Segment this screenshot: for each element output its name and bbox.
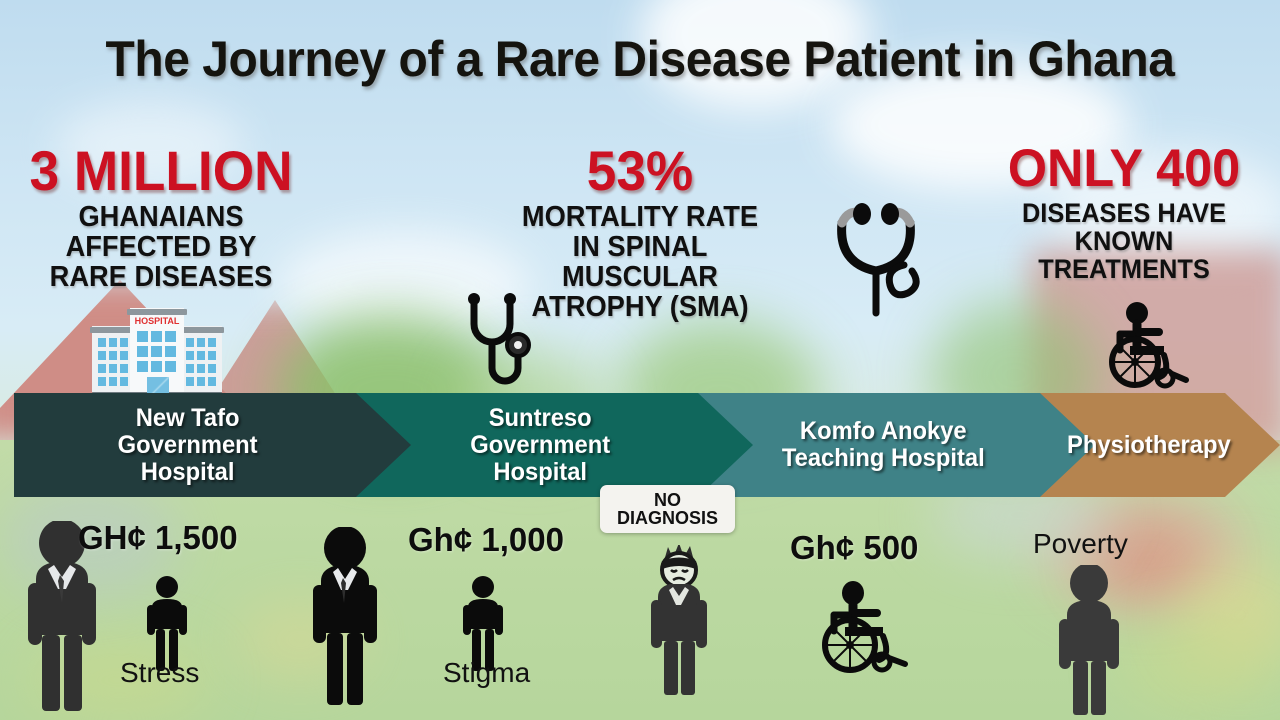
- stat-label-treatments: DISEASES HAVE KNOWN TREATMENTS: [972, 199, 1277, 283]
- journey-arrow-chain: New Tafo Government Hospital Suntreso Go…: [0, 393, 1280, 497]
- cost-amount-2: Gh¢ 1,000: [408, 521, 564, 559]
- stat-label-mortality: MORTALITY RATE IN SPINAL MUSCULAR ATROPH…: [480, 202, 800, 323]
- journey-step-label: Komfo Anokye Teaching Hospital: [765, 418, 985, 472]
- distressed-patient-figure: [640, 545, 718, 695]
- stat-value-treatments: ONLY 400: [970, 144, 1278, 195]
- outcome-caption-stress: Stress: [120, 657, 199, 689]
- stat-block-treatments: ONLY 400 DISEASES HAVE KNOWN TREATMENTS: [962, 144, 1280, 283]
- stat-value-mortality: 53%: [479, 144, 802, 198]
- hospital-sign-text: HOSPITAL: [92, 316, 222, 326]
- outcome-caption-poverty: Poverty: [1033, 528, 1128, 560]
- journey-step-label: Physiotherapy: [1057, 432, 1230, 459]
- businessman-figure: [300, 527, 390, 705]
- page-title: The Journey of a Rare Disease Patient in…: [26, 30, 1255, 88]
- wheelchair-patient-icon: [818, 579, 923, 674]
- stat-block-mortality: 53% MORTALITY RATE IN SPINAL MUSCULAR AT…: [470, 144, 810, 322]
- stat-label-affected: GHANAIANS AFFECTED BY RARE DISEASES: [6, 202, 316, 292]
- poverty-figure: [1050, 565, 1128, 715]
- journey-step-label: New Tafo Government Hospital: [118, 405, 258, 486]
- cost-amount-3: Gh¢ 500: [790, 529, 918, 567]
- journey-step-new-tafo[interactable]: New Tafo Government Hospital: [14, 393, 414, 497]
- no-diagnosis-badge: NO DIAGNOSIS: [600, 485, 735, 533]
- journey-step-komfo-anokye[interactable]: Komfo Anokye Teaching Hospital: [698, 393, 1098, 497]
- stat-block-affected: 3 MILLION GHANAIANS AFFECTED BY RARE DIS…: [0, 144, 326, 292]
- journey-step-suntreso[interactable]: Suntreso Government Hospital: [356, 393, 756, 497]
- wheelchair-icon: [1108, 300, 1208, 390]
- hospital-building-icon: HOSPITAL: [92, 303, 222, 399]
- stethoscope-smiley-icon: [828, 195, 948, 320]
- stat-value-affected: 3 MILLION: [4, 144, 318, 198]
- journey-step-label: Suntreso Government Hospital: [453, 405, 610, 486]
- cost-amount-1: GH¢ 1,500: [78, 519, 238, 557]
- journey-step-physiotherapy[interactable]: Physiotherapy: [1040, 393, 1280, 497]
- outcome-caption-stigma: Stigma: [443, 657, 530, 689]
